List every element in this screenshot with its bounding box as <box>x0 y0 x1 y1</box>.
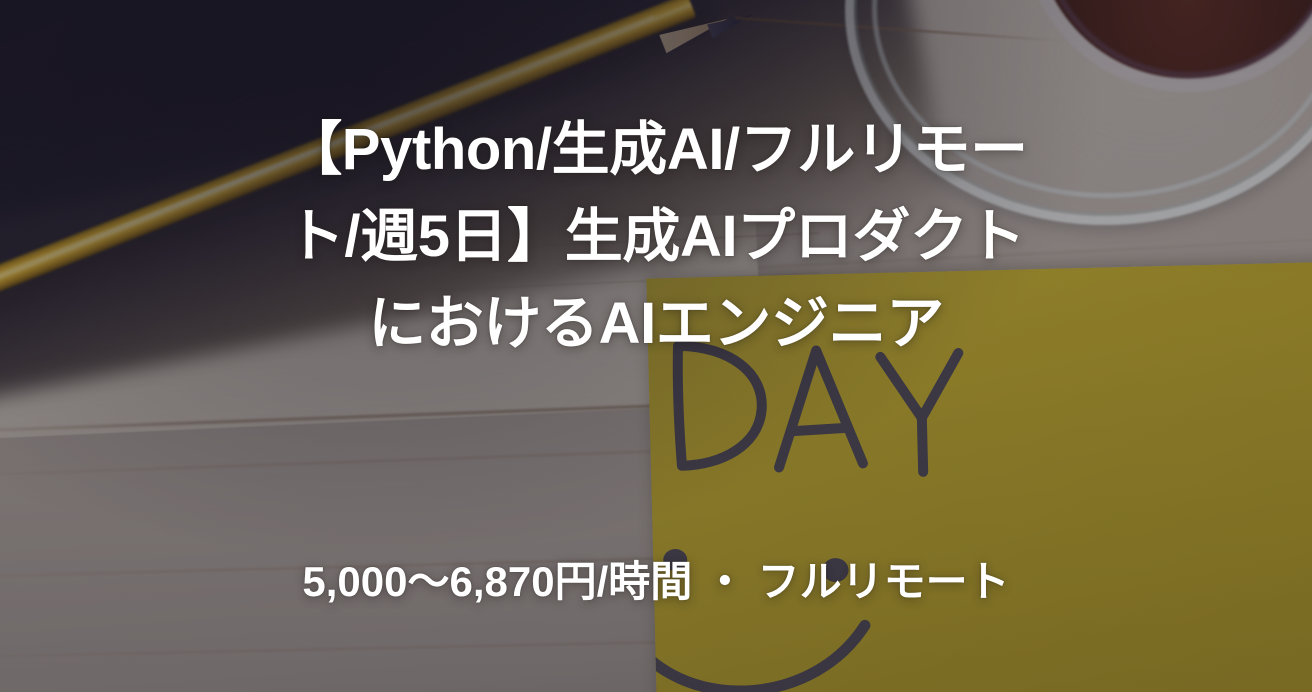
job-title: 【Python/生成AI/フルリモート/週5日】生成AIプロダクトにおけるAIエ… <box>276 106 1036 367</box>
job-posting-banner[interactable]: 【Python/生成AI/フルリモート/週5日】生成AIプロダクトにおけるAIエ… <box>0 0 1312 692</box>
banner-content: 【Python/生成AI/フルリモート/週5日】生成AIプロダクトにおけるAIエ… <box>0 0 1312 692</box>
job-meta-line: 5,000〜6,870円/時間 ・ フルリモート <box>0 548 1312 609</box>
